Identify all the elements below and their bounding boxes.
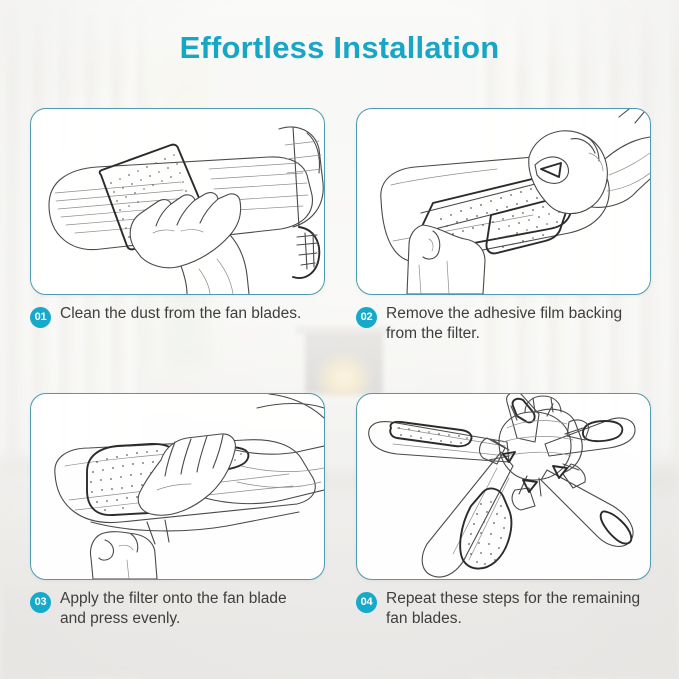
step-card-02: 02 Remove the adhesive film backing from… — [356, 108, 649, 308]
steps-grid: 01 Clean the dust from the fan blades. — [30, 108, 649, 648]
step-caption-text-03: Apply the filter onto the fan blade and … — [60, 589, 315, 629]
step-badge-03: 03 — [30, 592, 51, 613]
step-illustration-02 — [356, 108, 651, 295]
illustration-hand-wiping-blade-icon — [31, 109, 324, 294]
step-caption-03: 03 Apply the filter onto the fan blade a… — [30, 589, 330, 629]
step-illustration-03 — [30, 393, 325, 580]
step-card-03: 03 Apply the filter onto the fan blade a… — [30, 393, 323, 593]
illustration-peel-film-icon — [357, 109, 650, 294]
step-caption-text-02: Remove the adhesive film backing from th… — [386, 304, 641, 344]
illustration-ceiling-fan-icon — [357, 394, 650, 579]
step-badge-02: 02 — [356, 307, 377, 328]
step-badge-01: 01 — [30, 307, 51, 328]
step-card-01: 01 Clean the dust from the fan blades. — [30, 108, 323, 308]
step-caption-text-04: Repeat these steps for the remaining fan… — [386, 589, 641, 629]
step-illustration-01 — [30, 108, 325, 295]
step-badge-04: 04 — [356, 592, 377, 613]
step-illustration-04 — [356, 393, 651, 580]
step-caption-04: 04 Repeat these steps for the remaining … — [356, 589, 656, 629]
illustration-press-filter-icon — [31, 394, 324, 579]
step-caption-01: 01 Clean the dust from the fan blades. — [30, 304, 330, 328]
step-caption-02: 02 Remove the adhesive film backing from… — [356, 304, 656, 344]
step-caption-text-01: Clean the dust from the fan blades. — [60, 304, 301, 324]
step-card-04: 04 Repeat these steps for the remaining … — [356, 393, 649, 593]
page-title: Effortless Installation — [0, 30, 679, 66]
